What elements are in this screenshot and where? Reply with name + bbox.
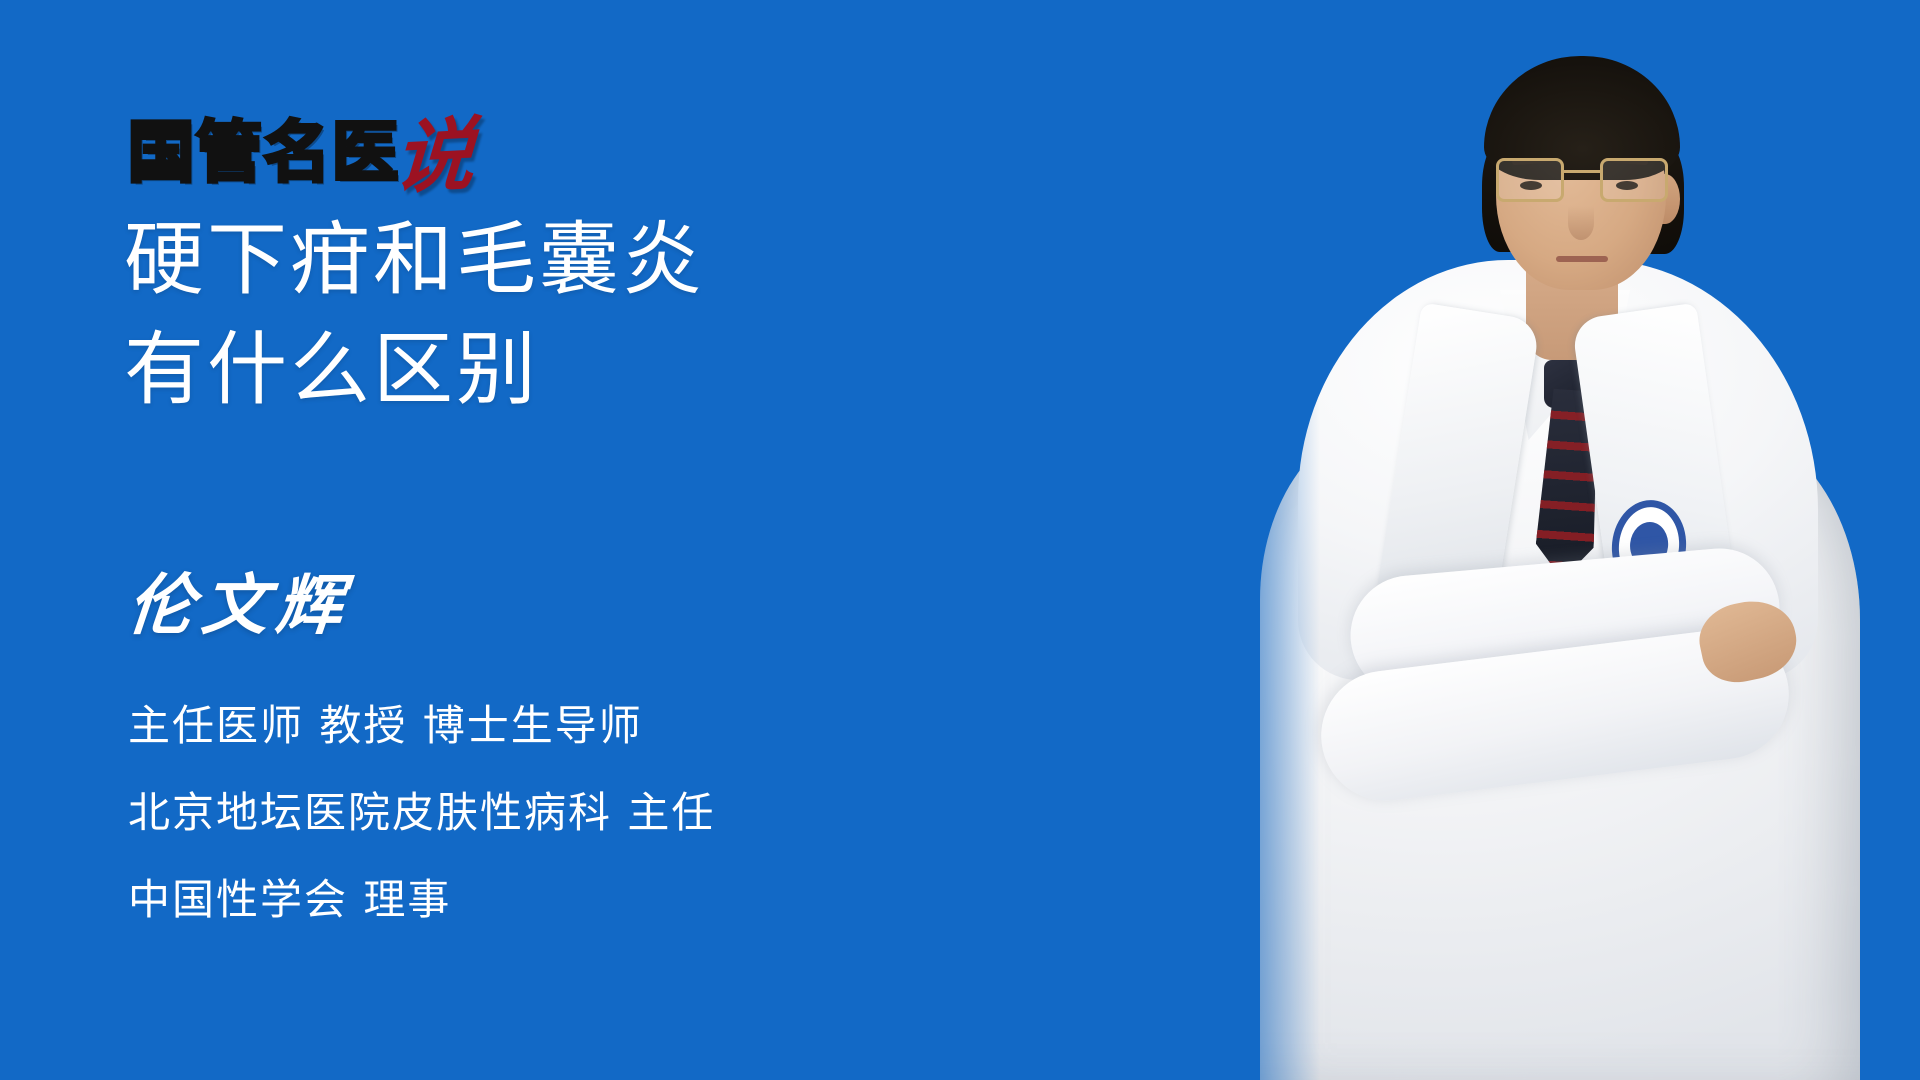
doctor-name: 伦文辉 <box>125 572 353 638</box>
program-logo-accent-text: 说 <box>392 118 476 194</box>
mouth <box>1556 256 1608 262</box>
credential-line-2: 北京地坛医院皮肤性病科 主任 <box>128 792 715 834</box>
eyeglass-bridge <box>1564 170 1600 173</box>
portrait-edge-fade <box>1200 50 1320 1080</box>
video-title-card: 国管名医 说 硬下疳和毛囊炎 有什么区别 伦文辉 主任医师 教授 博士生导师 北… <box>0 0 1920 1080</box>
doctor-credentials: 主任医师 教授 博士生导师 北京地坛医院皮肤性病科 主任 中国性学会 理事 <box>128 705 715 921</box>
eyeglass-lens-right <box>1600 158 1668 202</box>
credential-line-1: 主任医师 教授 博士生导师 <box>128 705 715 747</box>
eyeglass-lens-left <box>1496 158 1564 202</box>
program-logo: 国管名医 说 <box>128 98 474 186</box>
page-title: 硬下疳和毛囊炎 有什么区别 <box>124 205 705 426</box>
title-line-1: 硬下疳和毛囊炎 <box>124 205 705 315</box>
program-logo-main-text: 国管名医 <box>128 120 400 186</box>
nose <box>1568 206 1594 240</box>
title-line-2: 有什么区别 <box>124 315 705 425</box>
credential-line-3: 中国性学会 理事 <box>128 879 715 921</box>
eyeglasses-icon <box>1496 154 1668 208</box>
doctor-portrait-image: 中医药信 <box>1200 50 1920 1080</box>
